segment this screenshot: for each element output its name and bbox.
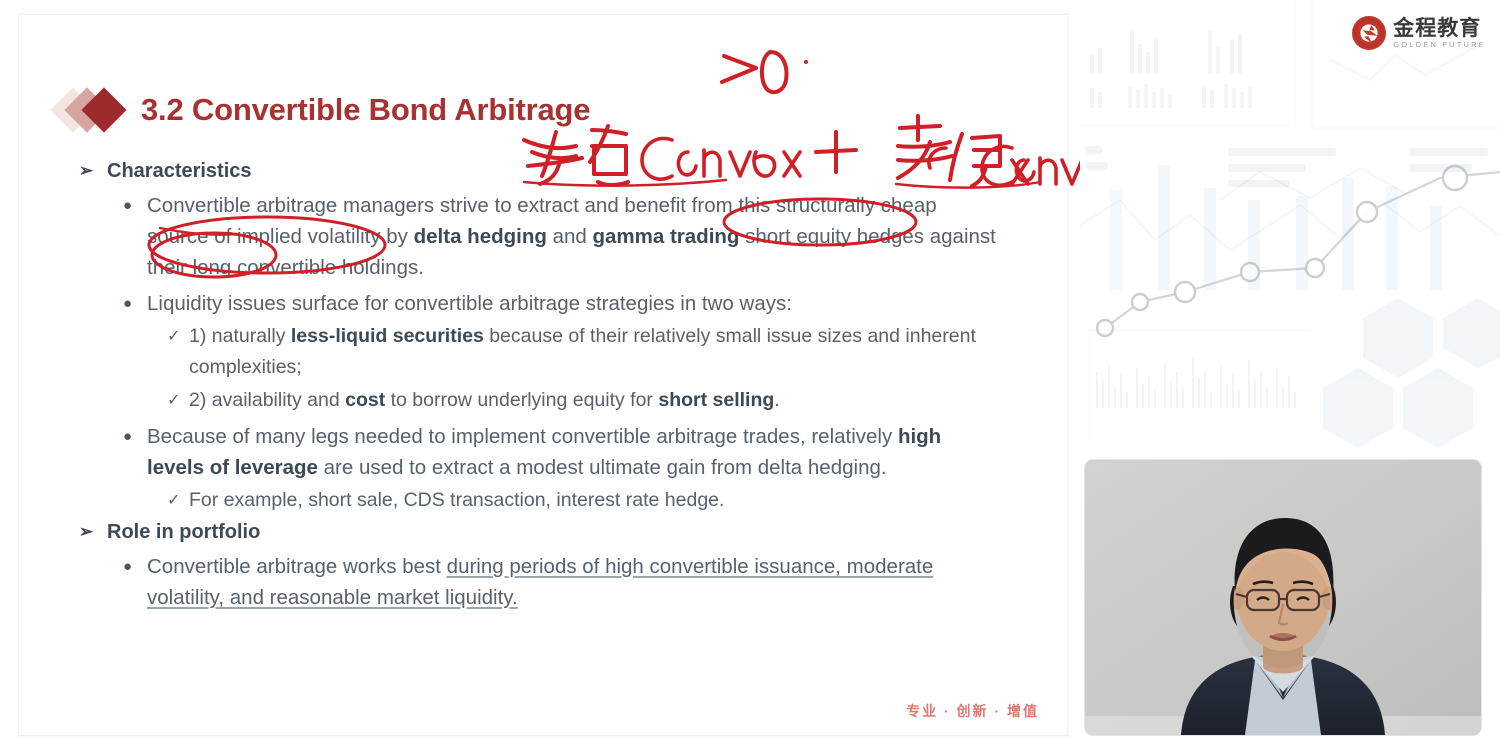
check-bullet-icon: ✓ — [167, 321, 189, 352]
bullet-item: ●Convertible arbitrage managers strive t… — [79, 190, 1068, 283]
slide-title-row: 3.2 Convertible Bond Arbitrage — [55, 87, 590, 133]
sub-bullet-text: 1) naturally less-liquid securities beca… — [189, 321, 979, 383]
bullet-item: ●Liquidity issues surface for convertibl… — [79, 288, 1068, 319]
brand-name-cn: 金程教育 — [1393, 18, 1486, 39]
presentation-viewer: 3.2 Convertible Bond Arbitrage ➢Characte… — [0, 0, 1500, 750]
sub-bullet-text: For example, short sale, CDS transaction… — [189, 485, 724, 516]
bullet-text: Because of many legs needed to implement… — [147, 421, 997, 483]
bullet-text: Liquidity issues surface for convertible… — [147, 288, 792, 319]
arrow-bullet-icon: ➢ — [79, 518, 107, 546]
presenter-video-panel[interactable] — [1085, 460, 1481, 735]
presenter-webcam-image — [1085, 460, 1481, 735]
diamond-bullet-icon — [55, 87, 141, 133]
background-infographic — [1080, 0, 1500, 450]
slide-footer-slogan: 专业 · 创新 · 增值 — [906, 701, 1039, 721]
sub-bullet-item: ✓For example, short sale, CDS transactio… — [79, 485, 1068, 516]
round-bullet-icon: ● — [123, 288, 147, 319]
brand-name-en: GOLDEN FUTURE — [1393, 41, 1486, 49]
sub-bullet-item: ✓2) availability and cost to borrow unde… — [79, 385, 1068, 416]
section-heading-label: Characteristics — [107, 157, 252, 185]
check-bullet-icon: ✓ — [167, 385, 189, 416]
section-heading-label: Role in portfolio — [107, 518, 260, 546]
slide-canvas: 3.2 Convertible Bond Arbitrage ➢Characte… — [18, 14, 1068, 736]
slide-body: ➢Characteristics●Convertible arbitrage m… — [79, 155, 1068, 613]
round-bullet-icon: ● — [123, 190, 147, 221]
page-title: 3.2 Convertible Bond Arbitrage — [141, 92, 590, 128]
round-bullet-icon: ● — [123, 421, 147, 452]
round-bullet-icon: ● — [123, 551, 147, 582]
bullet-text: Convertible arbitrage works best during … — [147, 551, 997, 613]
right-graphic-panel: 金程教育 GOLDEN FUTURE — [1080, 0, 1500, 450]
bullet-item: ●Convertible arbitrage works best during… — [79, 551, 1068, 613]
bullet-item: ●Because of many legs needed to implemen… — [79, 421, 1068, 483]
sub-bullet-text: 2) availability and cost to borrow under… — [189, 385, 780, 416]
bullet-text: Convertible arbitrage managers strive to… — [147, 190, 997, 283]
check-bullet-icon: ✓ — [167, 485, 189, 516]
arrow-bullet-icon: ➢ — [79, 157, 107, 185]
brand-logo: 金程教育 GOLDEN FUTURE — [1352, 16, 1486, 50]
section-heading: ➢Role in portfolio — [79, 518, 1068, 546]
section-heading: ➢Characteristics — [79, 157, 1068, 185]
sub-bullet-item: ✓1) naturally less-liquid securities bec… — [79, 321, 1068, 383]
logo-seal-icon — [1352, 16, 1386, 50]
